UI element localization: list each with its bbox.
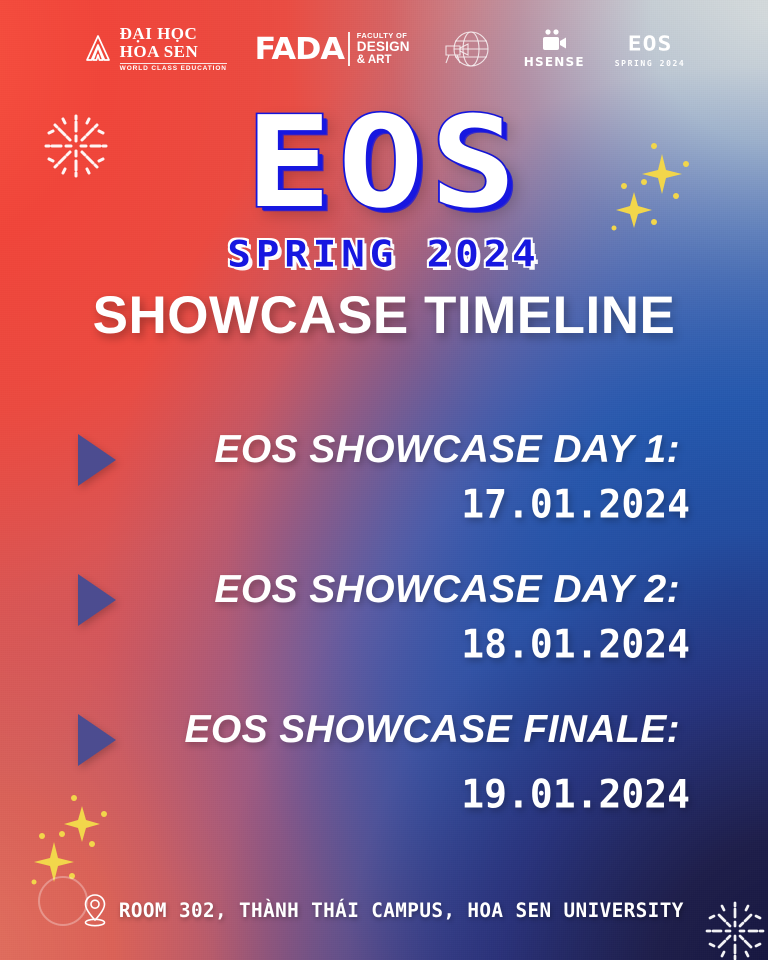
globe-camera-icon <box>440 26 494 72</box>
hsu-line-2: HOA SEN <box>120 43 227 60</box>
logo-fada: FADA FACULTY OF DESIGN & ART <box>257 32 410 67</box>
eos-small-subtitle: SPRING 2024 <box>615 59 686 68</box>
hero-wordmark-block: EOS SPRING 2024 <box>0 104 768 277</box>
lotus-flame-icon <box>83 33 113 65</box>
fada-divider <box>348 32 350 66</box>
hoa-sen-wordmark: ĐẠI HỌC HOA SEN WORLD CLASS EDUCATION <box>120 25 227 73</box>
timeline-item-day-1: EOS SHOWCASE DAY 1: 17.01.2024 <box>0 420 768 560</box>
logo-eos-spring: EOS SPRING 2024 <box>615 31 686 68</box>
timeline-item-finale: EOS SHOWCASE FINALE: 19.01.2024 <box>0 700 768 840</box>
hsu-line-1: ĐẠI HỌC <box>120 25 227 42</box>
eos-showcase-timeline-poster: ĐẠI HỌC HOA SEN WORLD CLASS EDUCATION FA… <box>0 0 768 960</box>
timeline-list: EOS SHOWCASE DAY 1: 17.01.2024 EOS SHOWC… <box>0 420 768 840</box>
eos-small-wordmark: EOS <box>628 32 673 55</box>
hsense-wordmark: HSENSE <box>524 55 585 69</box>
fada-wordmark: FADA <box>254 32 343 67</box>
timeline-label: EOS SHOWCASE DAY 1: <box>0 428 680 472</box>
fada-line-3: & ART <box>357 54 410 66</box>
video-camera-icon <box>540 29 568 53</box>
timeline-date: 18.01.2024 <box>0 622 690 667</box>
logo-globe-camera <box>440 26 494 72</box>
hsu-divider <box>120 63 227 64</box>
timeline-label: EOS SHOWCASE FINALE: <box>0 708 680 752</box>
hero-eos-wordmark: EOS <box>245 101 522 227</box>
timeline-label: EOS SHOWCASE DAY 2: <box>0 568 680 612</box>
page-title: SHOWCASE TIMELINE <box>0 285 768 346</box>
venue-text: ROOM 302, THÀNH THÁI CAMPUS, HOA SEN UNI… <box>119 899 684 922</box>
logo-hoa-sen-university: ĐẠI HỌC HOA SEN WORLD CLASS EDUCATION <box>83 25 227 73</box>
hero-spring-subtitle: SPRING 2024 <box>0 233 768 275</box>
fada-subtitle: FACULTY OF DESIGN & ART <box>357 32 410 66</box>
timeline-item-day-2: EOS SHOWCASE DAY 2: 18.01.2024 <box>0 560 768 700</box>
timeline-date: 19.01.2024 <box>0 772 690 817</box>
hsu-tagline: WORLD CLASS EDUCATION <box>120 66 227 73</box>
venue-footer: ROOM 302, THÀNH THÁI CAMPUS, HOA SEN UNI… <box>0 893 768 927</box>
sponsor-logo-bar: ĐẠI HỌC HOA SEN WORLD CLASS EDUCATION FA… <box>0 18 768 80</box>
fada-line-2: DESIGN <box>357 40 410 54</box>
logo-hsense: HSENSE <box>524 29 585 69</box>
location-pin-icon <box>82 893 108 927</box>
timeline-date: 17.01.2024 <box>0 482 690 527</box>
